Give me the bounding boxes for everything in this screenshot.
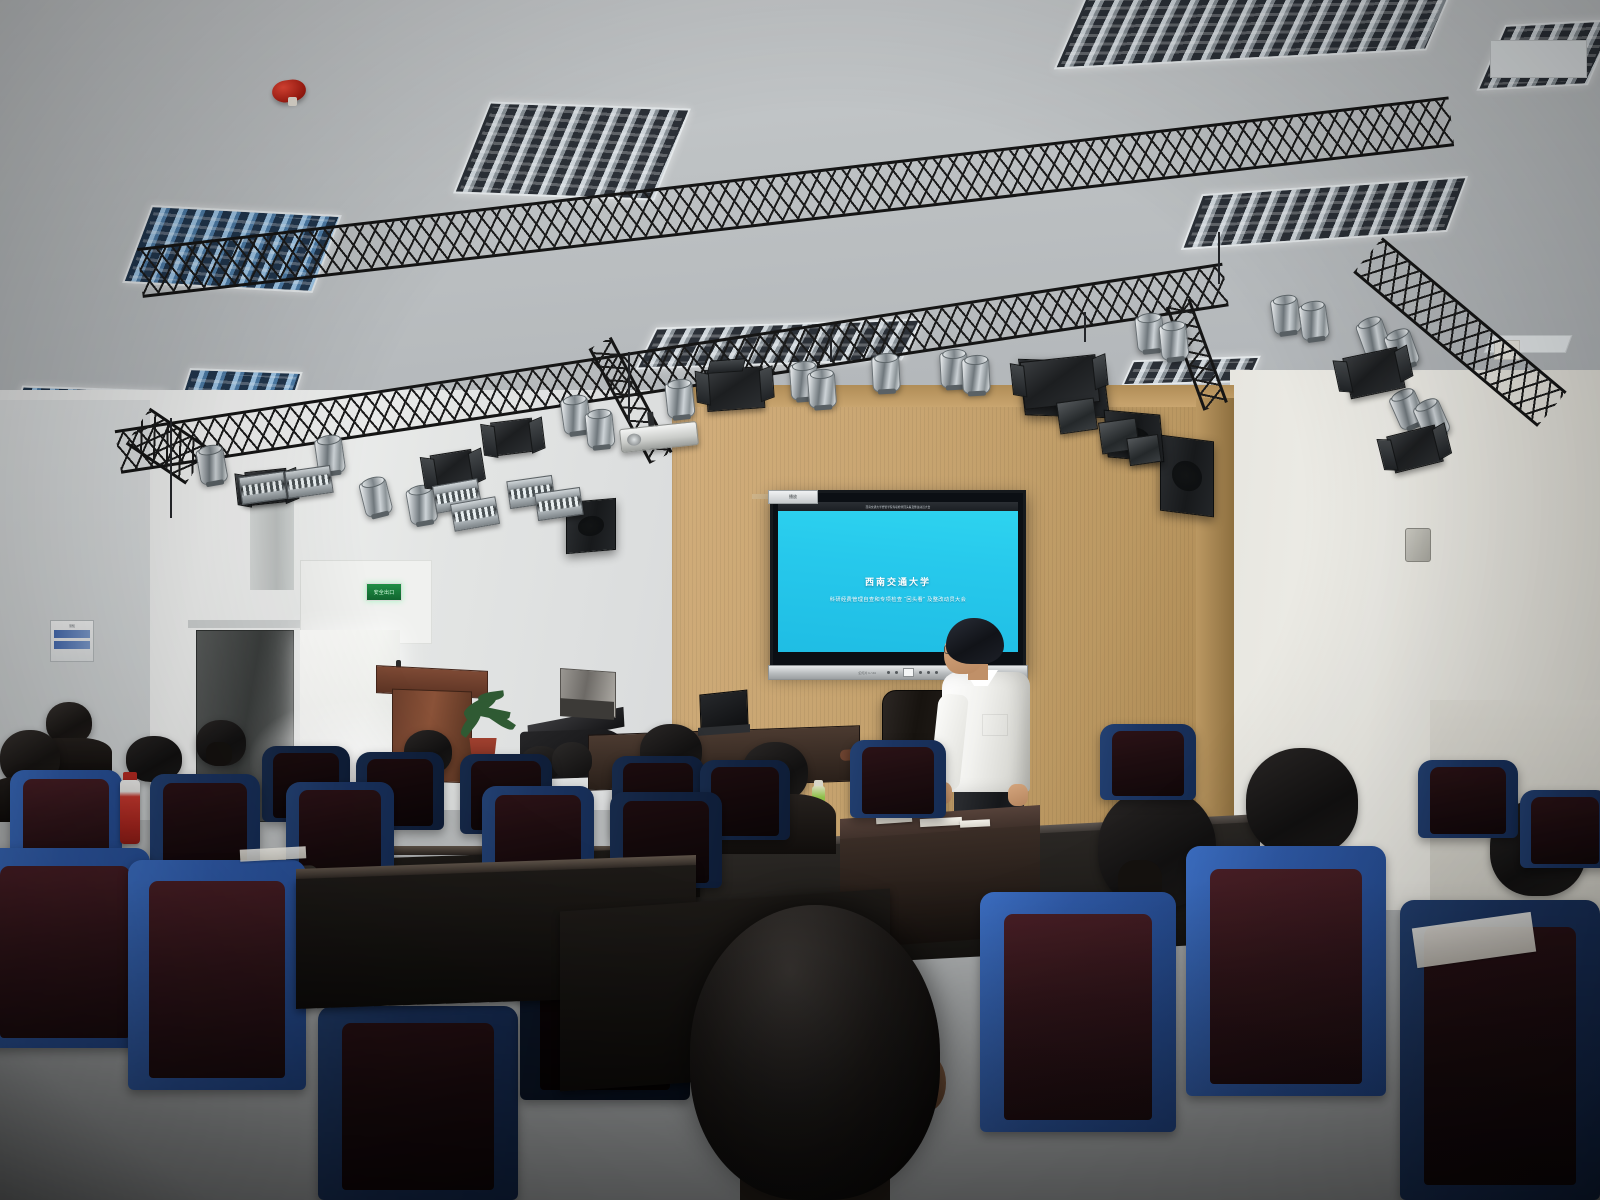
flood-light bbox=[1126, 434, 1162, 466]
slide-title: 西南交通大学 bbox=[865, 575, 931, 588]
wall-notice-sign: 须知 bbox=[50, 620, 94, 662]
door-frame bbox=[188, 620, 300, 628]
projector-control-label: 播放 bbox=[789, 494, 797, 500]
smoke-detector-base bbox=[288, 97, 297, 106]
slide-header-text: 西南交通大学经管学院专项检查回头看及整改动员大会 bbox=[866, 505, 931, 509]
presenter-hair bbox=[946, 618, 1004, 664]
toolbar-dot-icon bbox=[887, 671, 890, 674]
hair-tie bbox=[206, 742, 232, 766]
barn-door-icon bbox=[759, 365, 775, 402]
par-can-light bbox=[1270, 296, 1303, 336]
toolbar-button[interactable] bbox=[903, 668, 914, 677]
auditorium-seat[interactable] bbox=[980, 892, 1176, 1132]
foreground-audience-head bbox=[690, 905, 940, 1200]
cola-bottle bbox=[120, 780, 140, 844]
slide-counter: 幻灯片 1 / 24 bbox=[858, 671, 875, 675]
truss-hanger bbox=[830, 336, 832, 362]
par-can-light bbox=[807, 371, 837, 409]
truss-hanger bbox=[628, 352, 630, 422]
auditorium-seat[interactable] bbox=[1520, 790, 1600, 868]
auditorium-seat[interactable] bbox=[1418, 760, 1518, 838]
flood-light bbox=[1056, 398, 1098, 435]
par-can-light bbox=[871, 355, 901, 392]
av-equipment-rack-panel bbox=[560, 698, 614, 720]
truss-hanger bbox=[1084, 312, 1086, 342]
barn-door-icon bbox=[695, 371, 711, 406]
truss-hanger bbox=[1218, 232, 1220, 284]
notice-line bbox=[54, 641, 90, 649]
par-can-light bbox=[961, 357, 991, 394]
par-can-light bbox=[1298, 302, 1331, 342]
slide-subtitle: 科研经费管理自查和专项检查 “回头看” 及整改动员大会 bbox=[830, 596, 966, 603]
truss-hanger bbox=[170, 418, 172, 518]
fresnel-stage-light bbox=[490, 418, 536, 457]
projector-control-tab[interactable]: 播放 bbox=[768, 490, 818, 504]
notice-line bbox=[54, 630, 90, 638]
auditorium-seat[interactable] bbox=[850, 740, 946, 818]
ceiling-light-troffer bbox=[453, 101, 691, 200]
auditorium-seat[interactable] bbox=[1100, 724, 1196, 800]
shirt-pocket bbox=[982, 714, 1008, 736]
wall-speaker-small bbox=[1405, 528, 1431, 562]
auditorium-seat[interactable] bbox=[318, 1006, 518, 1200]
barn-door-icon bbox=[1010, 363, 1028, 397]
auditorium-seat[interactable] bbox=[1186, 846, 1386, 1096]
wall-speaker bbox=[1160, 435, 1214, 518]
audience-head bbox=[1246, 748, 1358, 856]
toolbar-dot-icon bbox=[895, 671, 898, 674]
audience-head bbox=[552, 742, 592, 778]
emergency-exit-sign: 安全出口 bbox=[366, 583, 402, 601]
barn-door-icon bbox=[480, 424, 498, 458]
par-can-light bbox=[1158, 323, 1190, 362]
par-can-light bbox=[195, 446, 229, 486]
par-can-light bbox=[584, 411, 616, 450]
presenter-hand bbox=[1008, 784, 1028, 806]
notice-sign-title: 须知 bbox=[54, 624, 90, 628]
toolbar-dot-icon bbox=[919, 671, 922, 674]
ceiling-vent bbox=[1490, 40, 1587, 78]
barn-door-icon bbox=[707, 358, 746, 374]
auditorium-photo: 须知 安全出口 西南交通大学经管学院专项检查回头看及整改动员大会 西南交通大学 … bbox=[0, 0, 1600, 1200]
auditorium-seat[interactable] bbox=[286, 782, 394, 874]
auditorium-seat[interactable] bbox=[128, 860, 306, 1090]
fresnel-stage-light bbox=[705, 366, 766, 412]
exit-sign-label: 安全出口 bbox=[374, 589, 395, 596]
par-can-light bbox=[664, 381, 696, 420]
